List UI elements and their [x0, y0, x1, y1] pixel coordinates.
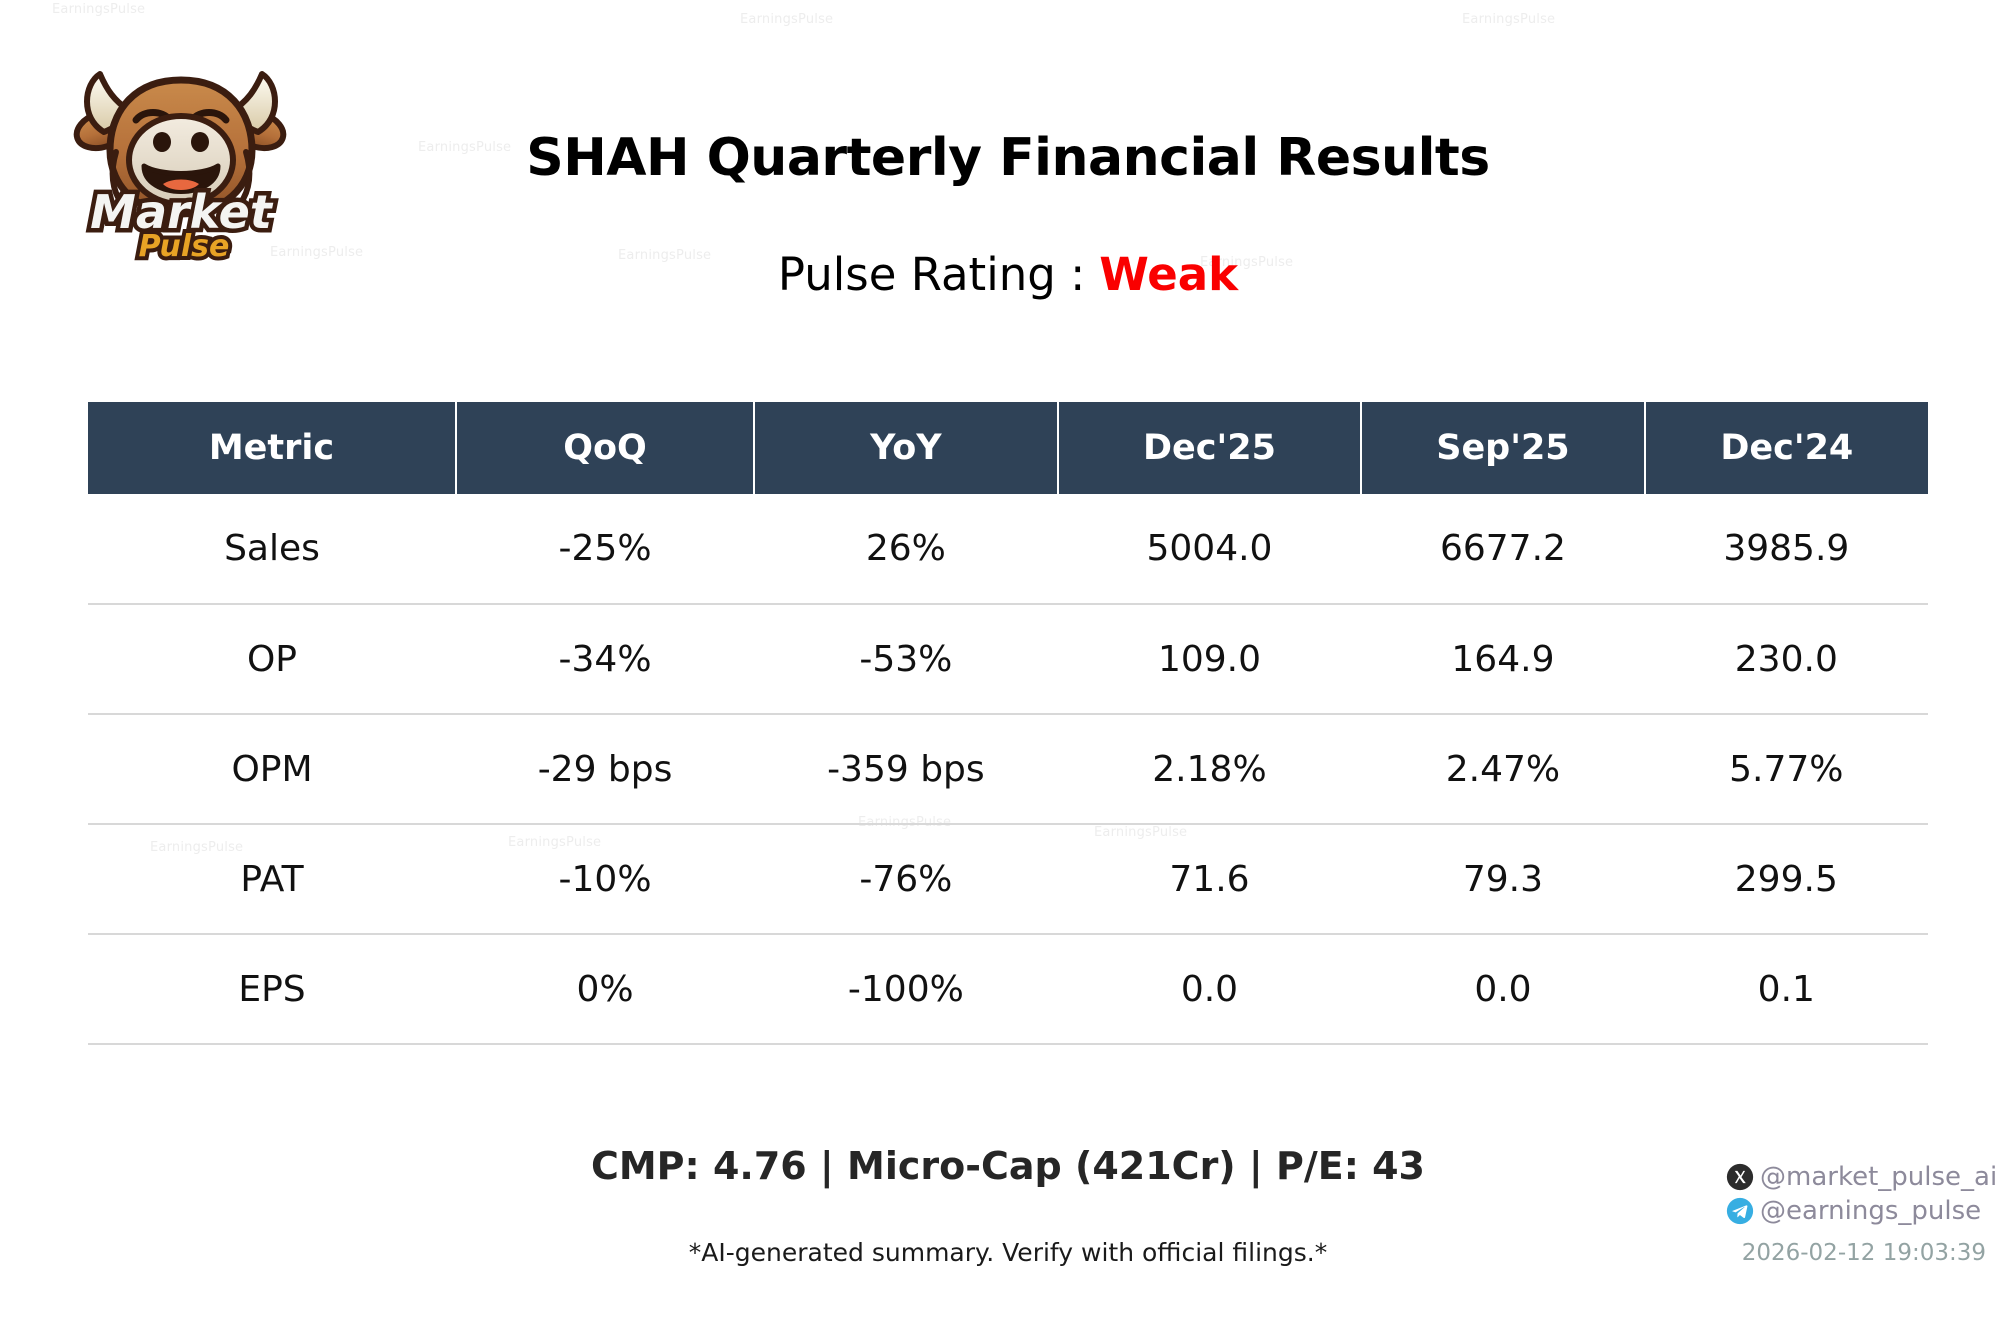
pulse-rating: Pulse Rating :Weak: [0, 248, 2016, 301]
financial-table-wrapper: Metric QoQ YoY Dec'25 Sep'25 Dec'24 Sale…: [88, 402, 1928, 1045]
cell-yoy: -100%: [754, 934, 1058, 1044]
cell-metric: Sales: [88, 494, 456, 604]
cell-dec25: 0.0: [1058, 934, 1362, 1044]
pulse-rating-value: Weak: [1099, 248, 1238, 301]
results-card: EarningsPulse EarningsPulse EarningsPuls…: [0, 0, 2016, 1318]
cell-metric: OP: [88, 604, 456, 714]
cell-dec24: 5.77%: [1645, 714, 1928, 824]
cell-qoq: 0%: [456, 934, 754, 1044]
valuation-summary: CMP: 4.76 | Micro-Cap (421Cr) | P/E: 43: [0, 1144, 2016, 1188]
table-row: PAT -10% -76% 71.6 79.3 299.5: [88, 824, 1928, 934]
cell-dec24: 299.5: [1645, 824, 1928, 934]
cell-qoq: -29 bps: [456, 714, 754, 824]
cell-dec24: 3985.9: [1645, 494, 1928, 604]
table-row: EPS 0% -100% 0.0 0.0 0.1: [88, 934, 1928, 1044]
cell-yoy: 26%: [754, 494, 1058, 604]
cell-qoq: -10%: [456, 824, 754, 934]
cell-qoq: -34%: [456, 604, 754, 714]
cell-sep25: 0.0: [1361, 934, 1644, 1044]
cell-metric: EPS: [88, 934, 456, 1044]
cell-sep25: 79.3: [1361, 824, 1644, 934]
x-handle[interactable]: @market_pulse_ai: [1760, 1162, 1997, 1192]
table-row: OPM -29 bps -359 bps 2.18% 2.47% 5.77%: [88, 714, 1928, 824]
page-title: SHAH Quarterly Financial Results: [0, 128, 2016, 188]
cell-dec24: 0.1: [1645, 934, 1928, 1044]
cell-yoy: -53%: [754, 604, 1058, 714]
column-header-yoy: YoY: [754, 402, 1058, 494]
pulse-rating-label: Pulse Rating :: [778, 248, 1085, 301]
cell-dec25: 109.0: [1058, 604, 1362, 714]
cell-dec25: 71.6: [1058, 824, 1362, 934]
generated-timestamp: 2026-02-12 19:03:39: [1726, 1240, 1986, 1266]
cell-dec24: 230.0: [1645, 604, 1928, 714]
social-row-x[interactable]: @market_pulse_ai: [1726, 1160, 1986, 1194]
telegram-icon[interactable]: [1726, 1197, 1754, 1225]
column-header-qoq: QoQ: [456, 402, 754, 494]
cell-yoy: -76%: [754, 824, 1058, 934]
cell-dec25: 2.18%: [1058, 714, 1362, 824]
table-header-row: Metric QoQ YoY Dec'25 Sep'25 Dec'24: [88, 402, 1928, 494]
column-header-dec24: Dec'24: [1645, 402, 1928, 494]
cell-sep25: 164.9: [1361, 604, 1644, 714]
financial-table: Metric QoQ YoY Dec'25 Sep'25 Dec'24 Sale…: [88, 402, 1928, 1045]
telegram-handle[interactable]: @earnings_pulse: [1760, 1196, 1981, 1226]
watermark: EarningsPulse: [1462, 12, 1555, 27]
x-twitter-icon[interactable]: [1726, 1163, 1754, 1191]
watermark: EarningsPulse: [52, 2, 145, 17]
cell-yoy: -359 bps: [754, 714, 1058, 824]
cell-sep25: 6677.2: [1361, 494, 1644, 604]
table-row: OP -34% -53% 109.0 164.9 230.0: [88, 604, 1928, 714]
cell-dec25: 5004.0: [1058, 494, 1362, 604]
cell-sep25: 2.47%: [1361, 714, 1644, 824]
social-row-telegram[interactable]: @earnings_pulse: [1726, 1194, 1986, 1228]
column-header-sep25: Sep'25: [1361, 402, 1644, 494]
cell-qoq: -25%: [456, 494, 754, 604]
column-header-metric: Metric: [88, 402, 456, 494]
cell-metric: PAT: [88, 824, 456, 934]
social-links: @market_pulse_ai @earnings_pulse 2026-02…: [1726, 1160, 1986, 1266]
column-header-dec25: Dec'25: [1058, 402, 1362, 494]
watermark: EarningsPulse: [740, 12, 833, 27]
cell-metric: OPM: [88, 714, 456, 824]
table-row: Sales -25% 26% 5004.0 6677.2 3985.9: [88, 494, 1928, 604]
disclaimer-text: *AI-generated summary. Verify with offic…: [0, 1238, 2016, 1267]
